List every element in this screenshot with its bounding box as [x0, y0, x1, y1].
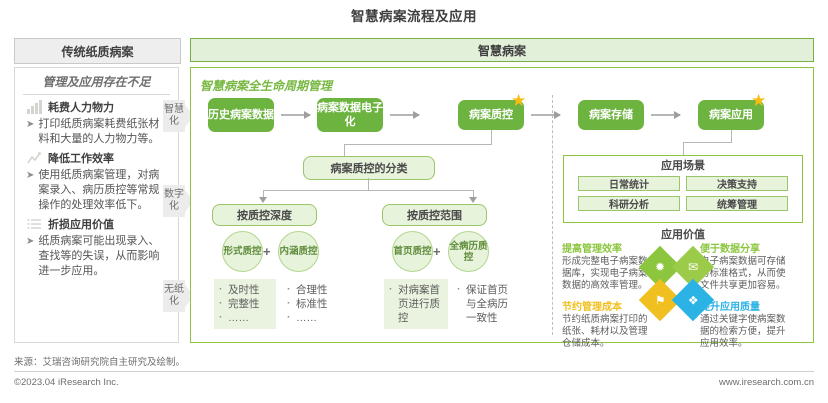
- flow-arrow-2: [531, 114, 560, 116]
- value-item-2: 节约管理成本 节约纸质病案打印的纸张、耗材以及管理仓储成本。: [562, 298, 655, 350]
- qc-branch-0-circle-0-label: 形式质控: [223, 246, 261, 257]
- process-step-3-label: 病案存储: [589, 108, 633, 122]
- qc-branch-0-title-label: 按质控深度: [237, 207, 292, 223]
- scenario-cell-0[interactable]: 日常统计: [578, 176, 680, 191]
- connector-qc-down: [491, 130, 492, 144]
- list-item: ……: [228, 311, 272, 325]
- qc-branch-1-circle-0: 首页质控: [392, 231, 433, 272]
- vertical-divider: [552, 95, 553, 335]
- left-panel-body: 管理及应用存在不足 耗费人力物力 ➤ 打印纸质病案耗费纸张材料和大量的人力物力等…: [14, 67, 179, 343]
- website-link[interactable]: www.iresearch.com.cn: [719, 377, 814, 388]
- list-item: 完整性: [228, 297, 272, 311]
- qc-branch-0-title: 按质控深度: [212, 204, 317, 226]
- list-item: 合理性: [296, 283, 340, 297]
- qc-branch-1-title: 按质控范围: [382, 204, 487, 226]
- process-step-0-label: 历史病案数据: [208, 108, 274, 122]
- qc-branch-1-bullets-left: 对病案首页进行质控: [384, 279, 448, 329]
- left-item-2-text: 纸质病案可能出现录入、查找等的失误，从而影响进一步应用。: [38, 234, 170, 279]
- qc-branch-1-circle-1-label: 全病历质控: [449, 241, 488, 263]
- left-item-0-text: 打印纸质病案耗费纸张材料和大量的人力物力等。: [38, 117, 170, 147]
- process-step-4-label: 病案应用: [709, 108, 753, 122]
- left-item-2: 折损应用价值 ➤ 纸质病案可能出现录入、查找等的失误，从而影响进一步应用。: [23, 216, 170, 279]
- footer-divider: [14, 371, 814, 372]
- left-panel-header: 传统纸质病案: [14, 38, 181, 64]
- flow-arrow-0: [281, 114, 310, 116]
- stage-arrow-0: 智慧化: [163, 100, 185, 132]
- qc-branch-1-circle-0-label: 首页质控: [393, 246, 431, 257]
- left-item-2-heading: 折损应用价值: [48, 216, 114, 232]
- qc-branch-0-circle-0: 形式质控: [222, 231, 263, 272]
- qc-branch-1-title-label: 按质控范围: [407, 207, 462, 223]
- left-item-1-body: ➤ 使用纸质病案管理，对病案录入、病历质控等常规操作的处理效率低下。: [23, 168, 170, 213]
- list-item: 对病案首页进行质控: [398, 283, 444, 325]
- flag-glyph: ⚑: [655, 294, 666, 306]
- gear-check-glyph: ✹: [655, 261, 665, 273]
- source-note: 来源：艾瑞咨询研究院自主研究及绘制。: [14, 354, 185, 368]
- connector-app-left: [683, 142, 732, 143]
- scenario-cell-2[interactable]: 科研分析: [578, 196, 680, 211]
- value-item-1-text: 电子病案数据可存储为标准格式，从而使文件共享更加容易。: [700, 256, 793, 292]
- left-item-1-header: 降低工作效率: [23, 150, 170, 166]
- left-panel-subtitle: 管理及应用存在不足: [23, 73, 170, 95]
- qc-classification-label: 病案质控的分类: [331, 160, 408, 176]
- qc-branch-1-bullets-right: 保证首页与全病历一致性: [452, 279, 516, 329]
- flow-arrow-3: [651, 114, 680, 116]
- connector-class-split: [263, 190, 473, 191]
- value-item-1-heading: 便于数据分享: [700, 240, 793, 255]
- chevron-right-icon: ➤: [26, 234, 34, 279]
- qc-branch-1-circle-1: 全病历质控: [448, 231, 489, 272]
- line-chart-icon: [27, 151, 42, 165]
- infographic-page: 智慧病案流程及应用 传统纸质病案 管理及应用存在不足 耗费人力物力 ➤ 打印纸质…: [0, 0, 828, 403]
- process-step-1: 病案数据电子化: [317, 98, 383, 132]
- list-item: 及时性: [228, 283, 272, 297]
- star-icon: ★: [751, 92, 766, 109]
- scenarios-title: 应用场景: [563, 157, 803, 173]
- left-item-0-header: 耗费人力物力: [23, 99, 170, 115]
- connector-qc-left: [344, 144, 492, 145]
- connector-app-to-scene: [683, 142, 684, 155]
- qc-branch-0-circle-1-label: 内涵质控: [279, 246, 317, 257]
- process-step-3: 病案存储: [578, 100, 644, 130]
- left-item-1: 降低工作效率 ➤ 使用纸质病案管理，对病案录入、病历质控等常规操作的处理效率低下…: [23, 150, 170, 213]
- left-item-0: 耗费人力物力 ➤ 打印纸质病案耗费纸张材料和大量的人力物力等。: [23, 99, 170, 147]
- list-item: 保证首页与全病历一致性: [466, 283, 512, 325]
- list-icon: [27, 217, 42, 231]
- left-item-1-text: 使用纸质病案管理，对病案录入、病历质控等常规操作的处理效率低下。: [38, 168, 170, 213]
- star-icon: ★: [511, 92, 526, 109]
- page-title: 智慧病案流程及应用: [0, 5, 828, 25]
- flow-title: 智慧病案全生命周期管理: [200, 77, 332, 94]
- copyright-text: ©2023.04 iResearch Inc.: [14, 377, 119, 388]
- list-item: 标准性: [296, 297, 340, 311]
- value-item-3: 提升应用质量 通过关键字使病案数据的检索方便，提升应用效率。: [700, 298, 793, 350]
- down-arrow-1-icon: [469, 197, 477, 203]
- left-item-1-heading: 降低工作效率: [48, 150, 114, 166]
- right-panel-header: 智慧病案: [190, 38, 814, 62]
- grid-glyph: ❖: [688, 294, 699, 306]
- flow-arrow-1: [390, 114, 419, 116]
- value-item-3-text: 通过关键字使病案数据的检索方便，提升应用效率。: [700, 314, 793, 350]
- envelope-glyph: ✉: [688, 261, 698, 273]
- qc-classification-box: 病案质控的分类: [303, 156, 435, 180]
- qc-branch-0-operator: +: [263, 244, 271, 259]
- qc-branch-0-bullets-right: 合理性 标准性 ……: [282, 279, 344, 329]
- connector-class-down: [368, 178, 369, 190]
- process-step-1-label: 病案数据电子化: [317, 101, 383, 129]
- connector-app-down: [731, 130, 732, 142]
- connector-qc-to-class: [344, 144, 345, 156]
- list-item: ……: [296, 311, 340, 325]
- chevron-right-icon: ➤: [26, 168, 34, 213]
- left-item-2-body: ➤ 纸质病案可能出现录入、查找等的失误，从而影响进一步应用。: [23, 234, 170, 279]
- value-item-0-heading: 提高管理效率: [562, 240, 655, 255]
- list-glyph: [27, 217, 42, 231]
- process-step-2-label: 病案质控: [469, 108, 513, 122]
- left-item-2-header: 折损应用价值: [23, 216, 170, 232]
- stage-arrow-2: 无纸化: [163, 280, 185, 312]
- down-arrow-0-icon: [259, 197, 267, 203]
- left-item-0-body: ➤ 打印纸质病案耗费纸张材料和大量的人力物力等。: [23, 117, 170, 147]
- chevron-right-icon: ➤: [26, 117, 34, 147]
- stage-arrow-1: 数字化: [163, 185, 185, 217]
- scenario-cell-1[interactable]: 决策支持: [686, 176, 788, 191]
- value-item-0-text: 形成完整电子病案数据库，实现电子病案数据的高效率管理。: [562, 256, 655, 292]
- bar-chart-icon: [27, 100, 42, 114]
- value-item-2-text: 节约纸质病案打印的纸张、耗材以及管理仓储成本。: [562, 314, 655, 350]
- scenario-cell-3[interactable]: 统筹管理: [686, 196, 788, 211]
- left-item-0-heading: 耗费人力物力: [48, 99, 114, 115]
- qc-branch-1-operator: +: [433, 244, 441, 259]
- qc-branch-0-circle-1: 内涵质控: [278, 231, 319, 272]
- line-chart-glyph: [27, 151, 42, 165]
- process-step-0: 历史病案数据: [208, 98, 274, 132]
- qc-branch-0-bullets-left: 及时性 完整性 ……: [214, 279, 276, 329]
